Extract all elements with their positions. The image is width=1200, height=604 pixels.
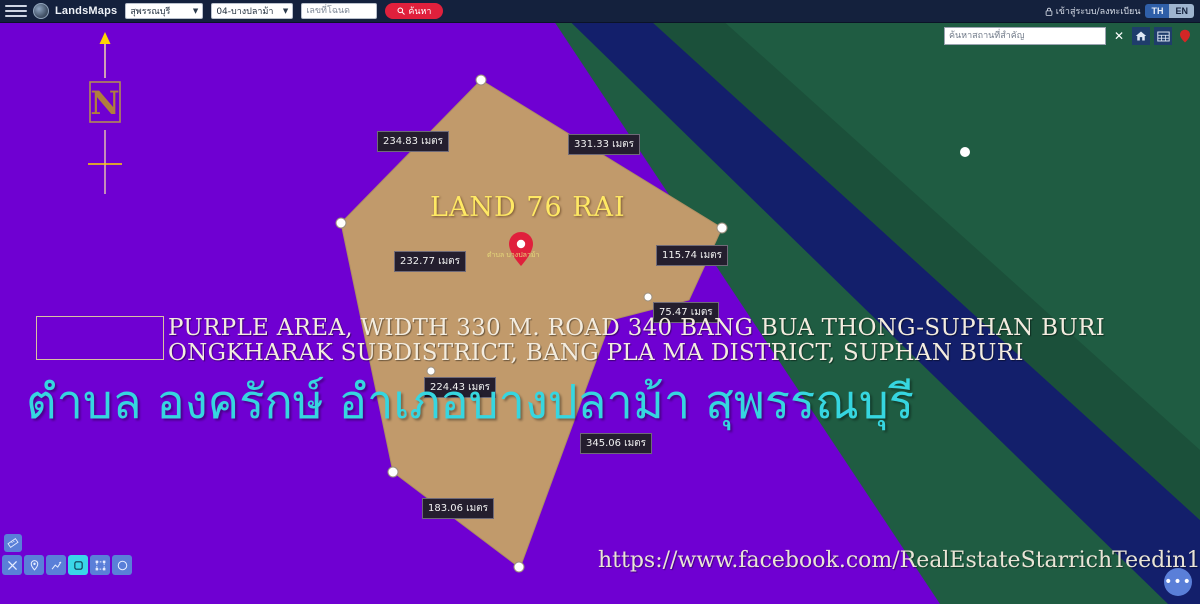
place-search-group: ✕ [944, 27, 1194, 45]
home-glyph [1135, 30, 1147, 42]
map-graphics [0, 0, 1200, 604]
measurement-label: 232.77 เมตร [394, 251, 466, 272]
rectangle-icon-glyph [72, 559, 85, 572]
close-icon[interactable]: ✕ [1110, 27, 1128, 45]
north-arrow-icon: N [84, 30, 126, 200]
overlay-english-line-2: ONGKHARAK SUBDISTRICT, BANG PLA MA DISTR… [168, 341, 1105, 366]
language-toggle[interactable]: TH EN [1145, 4, 1194, 18]
top-navigation-bar: LandsMaps สุพรรณบุรี ▼ 04-บางปลาม้า ▼ ค้… [0, 0, 1200, 23]
polygon-icon[interactable] [90, 555, 110, 575]
deed-number-input[interactable] [301, 3, 377, 19]
district-select-value: 04-บางปลาม้า [216, 4, 273, 18]
measurement-label: 115.74 เมตร [656, 245, 728, 266]
parcel-vertex [427, 367, 435, 375]
language-option-en[interactable]: EN [1169, 4, 1194, 18]
map-canvas[interactable] [0, 0, 1200, 604]
login-register-label: เข้าสู่ระบบ/ลงทะเบียน [1056, 4, 1141, 18]
province-select-value: สุพรรณบุรี [130, 4, 170, 18]
lock-icon [1045, 7, 1053, 16]
search-button[interactable]: ค้นหา [385, 3, 443, 19]
parcel-vertex [388, 467, 398, 477]
parcel-vertex [514, 562, 524, 572]
ruler-icon[interactable] [4, 534, 22, 552]
hamburger-icon[interactable] [5, 5, 27, 17]
landsmaps-app: N LAND 76 RAI ตำบล บางปลาม้า 234.83 เมตร… [0, 0, 1200, 604]
parcel-vertex [644, 293, 652, 301]
parcel-vertex [476, 75, 486, 85]
circle-icon-glyph [116, 559, 129, 572]
search-button-label: ค้นหา [408, 4, 431, 18]
draw-toolbar [2, 555, 132, 575]
parcel-vertex [717, 223, 727, 233]
map-point [960, 147, 970, 157]
measurement-label: 183.06 เมตร [422, 498, 494, 519]
compass-letter: N [90, 84, 119, 122]
province-select[interactable]: สุพรรณบุรี ▼ [125, 3, 203, 19]
login-register-link[interactable]: เข้าสู่ระบบ/ลงทะเบียน [1045, 4, 1141, 18]
overlay-english-text: PURPLE AREA, WIDTH 330 M. ROAD 340 BANG … [168, 316, 1105, 366]
map-pin-glyph [1179, 29, 1191, 43]
point-marker-icon[interactable] [24, 555, 44, 575]
polygon-icon-glyph [94, 559, 107, 572]
grid-glyph [1157, 31, 1170, 42]
search-icon [397, 7, 405, 15]
poi-label: ตำบล บางปลาม้า [487, 250, 539, 261]
chevron-down-icon: ▼ [193, 7, 198, 15]
polyline-icon-glyph [50, 559, 63, 572]
facebook-url-text: https://www.facebook.com/RealEstateStarr… [598, 548, 1200, 573]
home-icon[interactable] [1132, 27, 1150, 45]
ruler-glyph [7, 537, 19, 549]
chevron-down-icon: ▼ [283, 7, 288, 15]
parcel-vertex [336, 218, 346, 228]
rectangle-icon[interactable] [68, 555, 88, 575]
app-brand-name: LandsMaps [55, 5, 117, 17]
measurement-label: 331.33 เมตร [568, 134, 640, 155]
map-pin-icon[interactable] [1176, 27, 1194, 45]
parcel-title: LAND 76 RAI [430, 192, 626, 223]
overlay-english-line-1: PURPLE AREA, WIDTH 330 M. ROAD 340 BANG … [168, 316, 1105, 341]
circle-icon[interactable] [112, 555, 132, 575]
topbar-right-group: เข้าสู่ระบบ/ลงทะเบียน TH EN [1045, 4, 1200, 18]
user-avatar-icon[interactable] [33, 3, 49, 19]
legend-color-swatch [36, 316, 164, 360]
polyline-icon[interactable] [46, 555, 66, 575]
district-select[interactable]: 04-บางปลาม้า ▼ [211, 3, 293, 19]
grid-icon[interactable] [1154, 27, 1172, 45]
point-marker-icon-glyph [28, 559, 41, 572]
place-search-input[interactable] [944, 27, 1106, 45]
measurement-label: 234.83 เมตร [377, 131, 449, 152]
more-options-icon[interactable]: ••• [1164, 568, 1192, 596]
clear-all-icon-glyph [6, 559, 19, 572]
measurement-label: 345.06 เมตร [580, 433, 652, 454]
language-option-th[interactable]: TH [1145, 4, 1169, 18]
overlay-thai-text: ตำบล องครักษ์ อำเภอบางปลาม้า สุพรรณบุรี [26, 378, 914, 428]
clear-all-icon[interactable] [2, 555, 22, 575]
